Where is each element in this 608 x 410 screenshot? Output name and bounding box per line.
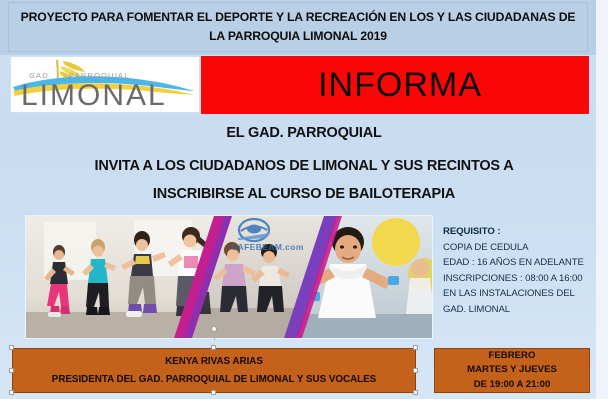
requisito-item-1: EDAD : 16 AÑOS EN ADELANTE: [443, 255, 605, 271]
right-margin-strip: [596, 0, 608, 399]
body-line-2: INVITA A LOS CIUDADANOS DE LIMONAL Y SUS…: [0, 158, 608, 174]
header-title-box[interactable]: PROYECTO PARA FOMENTAR EL DEPORTE Y LA R…: [8, 2, 588, 52]
requisito-item-3: EN LAS INSTALACIONES DEL: [443, 286, 605, 302]
schedule-days: MARTES Y JUEVES: [467, 363, 557, 377]
requisitos-block[interactable]: REQUISITO : COPIA DE CEDULA EDAD : 16 AÑ…: [443, 224, 605, 317]
schedule-box[interactable]: FEBRERO MARTES Y JUEVES DE 19:00 A 21:00: [434, 348, 590, 393]
selection-handle-top-left[interactable]: [9, 345, 14, 350]
rotate-handle[interactable]: [211, 326, 217, 332]
bottom-margin-strip: [0, 399, 608, 410]
logo-container[interactable]: GAD PARROQUIAL LIMONAL GAD PARROQUIAL LI…: [10, 56, 200, 113]
selection-handle-bottom-left[interactable]: [9, 390, 14, 395]
selection-handle-top-center[interactable]: [211, 345, 216, 350]
selection-handle-bottom-right[interactable]: [413, 390, 418, 395]
bailoterapia-photo[interactable]: CAFEBEAM.com: [26, 216, 432, 338]
signature-role: PRESIDENTA DEL GAD. PARROQUIAL DE LIMONA…: [52, 371, 376, 388]
schedule-hours: DE 19:00 A 21:00: [474, 378, 551, 392]
page-title: PROYECTO PARA FOMENTAR EL DEPORTE Y LA R…: [12, 8, 584, 46]
requisito-item-4: GAD. LIMONAL: [443, 302, 605, 318]
requisito-item-2: INSCRIPCIONES : 08:00 A 16:00: [443, 271, 605, 287]
svg-text:CAFEBEAM.com: CAFEBEAM.com: [231, 242, 304, 252]
collage-graphic: CAFEBEAM.com: [26, 216, 432, 338]
signature-name: KENYA RIVAS ARIAS: [165, 353, 263, 370]
requisito-item-0: COPIA DE CEDULA: [443, 240, 605, 256]
schedule-month: FEBRERO: [489, 349, 536, 363]
informa-banner[interactable]: INFORMA: [201, 56, 589, 114]
rotate-stem: [214, 332, 215, 340]
slide-canvas: PROYECTO PARA FOMENTAR EL DEPORTE Y LA R…: [0, 0, 608, 410]
informa-label: INFORMA: [308, 68, 482, 102]
requisitos-heading: REQUISITO :: [443, 224, 605, 240]
body-line-1: EL GAD. PARROQUIAL: [0, 125, 608, 141]
svg-text:LIMONAL: LIMONAL: [21, 79, 167, 112]
signature-box[interactable]: KENYA RIVAS ARIAS PRESIDENTA DEL GAD. PA…: [12, 348, 416, 393]
selection-handle-bottom-center[interactable]: [211, 390, 216, 395]
selection-handle-middle-right[interactable]: [413, 368, 418, 373]
body-line-3: INSCRIBIRSE AL CURSO DE BAILOTERAPIA: [0, 186, 608, 202]
gad-parroquial-limonal-logo: GAD PARROQUIAL LIMONAL: [11, 57, 199, 112]
selection-handle-middle-left[interactable]: [9, 368, 14, 373]
selection-handle-top-right[interactable]: [413, 345, 418, 350]
